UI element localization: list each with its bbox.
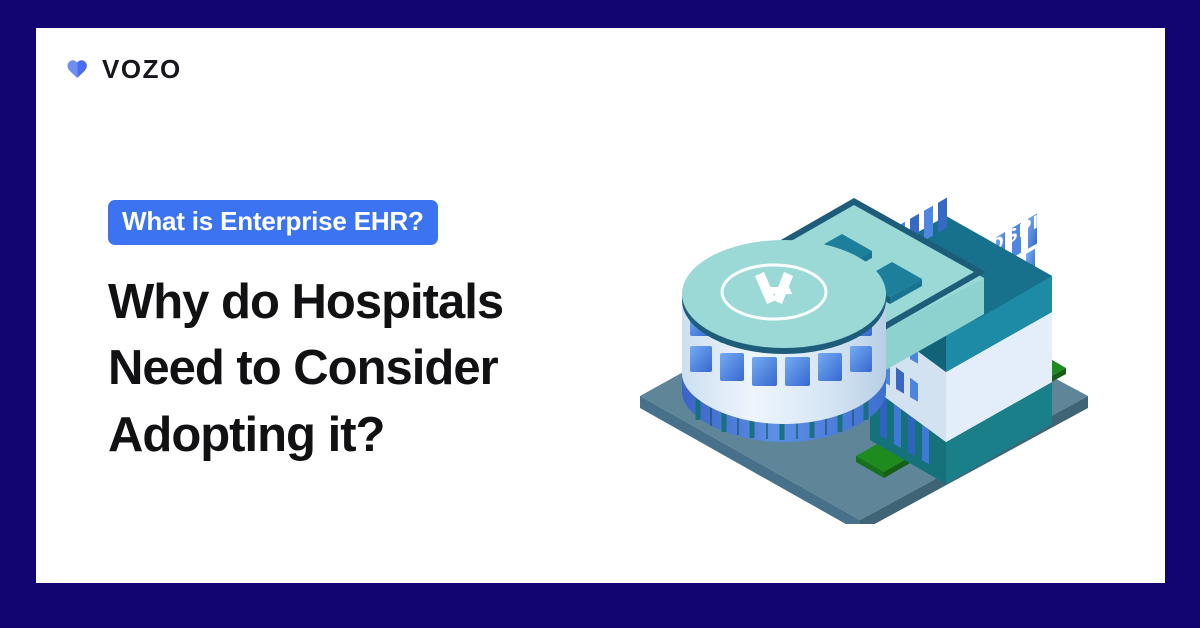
round-tower [682, 240, 886, 442]
content-card: VOZO What is Enterprise EHR? Why do Hosp… [36, 28, 1165, 583]
brand-logo[interactable]: VOZO [62, 54, 182, 84]
page-title: Why do Hospitals Need to Consider Adopti… [108, 269, 628, 467]
copy-block: What is Enterprise EHR? Why do Hospitals… [108, 200, 628, 468]
eyebrow-badge: What is Enterprise EHR? [108, 200, 438, 245]
heart-logo-icon [62, 54, 92, 84]
brand-name: VOZO [102, 56, 182, 82]
poster-canvas: VOZO What is Enterprise EHR? Why do Hosp… [0, 0, 1200, 628]
hospital-illustration: HOSPITAL [624, 124, 1104, 524]
